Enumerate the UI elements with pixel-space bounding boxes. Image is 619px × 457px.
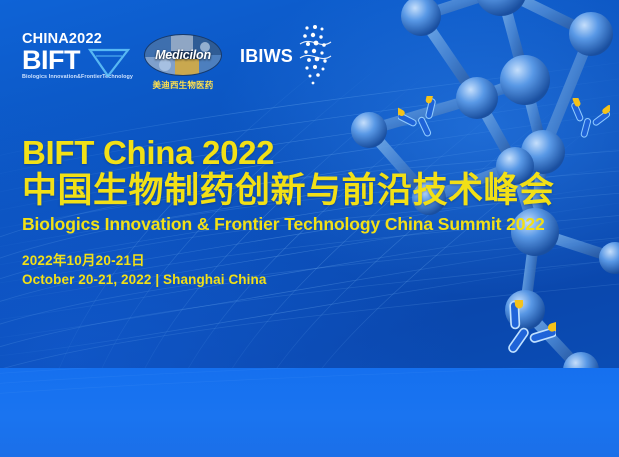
medicilon-logo[interactable]: Medicilon 美迪西生物医药 [142,34,224,91]
band-sheen [0,368,619,457]
medicilon-wordmark: Medicilon [145,48,221,62]
bift-swoosh-icon [88,46,134,80]
ibiws-wordmark: IBIWS [240,46,293,67]
bift-logo[interactable]: CHINA2022 BIFT Biologics Innovation&Fron… [22,32,126,81]
event-poster: CHINA2022 BIFT Biologics Innovation&Fron… [0,0,619,457]
logo-row: CHINA2022 BIFT Biologics Innovation&Fron… [22,32,332,91]
dna-helix-icon [298,24,332,86]
date-chinese: 2022年10月20-21日 [22,252,555,270]
poster-subtitle-english: Biologics Innovation & Frontier Technolo… [22,215,555,234]
ibiws-logo[interactable]: IBIWS [240,46,332,67]
medicilon-chinese-name: 美迪西生物医药 [142,79,224,91]
poster-text-block: BIFT China 2022 中国生物制药创新与前沿技术峰会 Biologic… [22,136,555,289]
antibody-icon [494,300,556,362]
poster-title-chinese: 中国生物制药创新与前沿技术峰会 [22,172,555,210]
poster-title-english: BIFT China 2022 [22,136,555,170]
poster-dates: 2022年10月20-21日 October 20-21, 2022 | Sha… [22,252,555,288]
date-english: October 20-21, 2022 | Shanghai China [22,271,555,289]
antibody-icon [566,98,610,142]
medicilon-oval-mark: Medicilon [144,34,222,76]
bottom-color-band [0,368,619,457]
